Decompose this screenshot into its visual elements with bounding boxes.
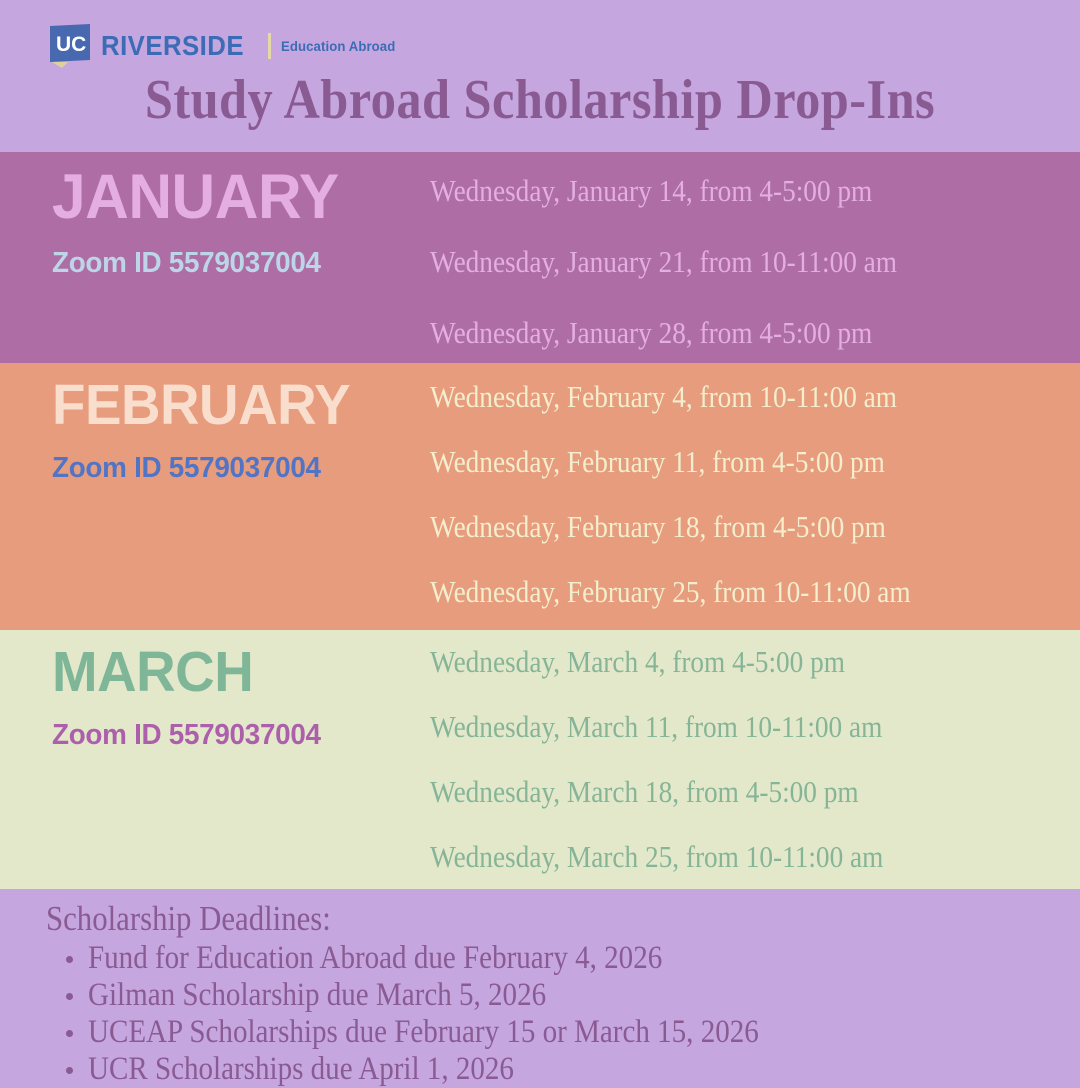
bullet-icon bbox=[66, 993, 73, 1000]
session-item: Wednesday, March 25, from 10-11:00 am bbox=[430, 841, 983, 872]
deadline-text: Gilman Scholarship due March 5, 2026 bbox=[88, 977, 546, 1014]
list-item: UCEAP Scholarships due February 15 or Ma… bbox=[46, 1014, 1080, 1051]
zoom-id-january: Zoom ID 5579037004 bbox=[52, 249, 415, 278]
svg-text:UC: UC bbox=[56, 33, 86, 56]
session-item: Wednesday, February 18, from 4-5:00 pm bbox=[430, 511, 983, 542]
logo-subtitle: Education Abroad bbox=[281, 39, 395, 53]
session-list-february: Wednesday, February 4, from 10-11:00 am … bbox=[430, 363, 1080, 641]
bullet-icon bbox=[66, 1030, 73, 1037]
month-label-group-february: FEBRUARY Zoom ID 5579037004 bbox=[0, 363, 430, 483]
list-item: UCR Scholarships due April 1, 2026 bbox=[46, 1051, 1080, 1088]
scholarship-deadlines-section: Scholarship Deadlines: Fund for Educatio… bbox=[0, 889, 1080, 1088]
session-item: Wednesday, March 18, from 4-5:00 pm bbox=[430, 776, 983, 807]
page-title: Study Abroad Scholarship Drop-Ins bbox=[54, 72, 1026, 128]
month-band-march: MARCH Zoom ID 5579037004 Wednesday, Marc… bbox=[0, 630, 1080, 889]
session-item: Wednesday, February 4, from 10-11:00 am bbox=[430, 381, 983, 412]
list-item: Gilman Scholarship due March 5, 2026 bbox=[46, 977, 1080, 1014]
session-item: Wednesday, February 11, from 4-5:00 pm bbox=[430, 446, 983, 477]
bullet-icon bbox=[66, 1067, 73, 1074]
deadlines-list: Fund for Education Abroad due February 4… bbox=[46, 938, 1080, 1088]
session-item: Wednesday, January 14, from 4-5:00 pm bbox=[430, 175, 983, 206]
logo-wordmark: RIVERSIDE bbox=[101, 32, 244, 60]
month-band-february: FEBRUARY Zoom ID 5579037004 Wednesday, F… bbox=[0, 363, 1080, 630]
logo-divider bbox=[268, 33, 271, 59]
session-item: Wednesday, January 21, from 10-11:00 am bbox=[430, 246, 983, 277]
month-name-february: FEBRUARY bbox=[52, 377, 415, 434]
session-item: Wednesday, February 25, from 10-11:00 am bbox=[430, 576, 983, 607]
ucr-education-abroad-logo: UC RIVERSIDE Education Abroad bbox=[48, 24, 403, 68]
bullet-icon bbox=[66, 956, 73, 963]
session-item: Wednesday, March 4, from 4-5:00 pm bbox=[430, 646, 983, 677]
zoom-id-february: Zoom ID 5579037004 bbox=[52, 454, 415, 483]
deadline-text: Fund for Education Abroad due February 4… bbox=[88, 940, 662, 977]
deadlines-heading: Scholarship Deadlines: bbox=[46, 899, 956, 938]
month-name-january: JANUARY bbox=[52, 166, 415, 229]
session-item: Wednesday, March 11, from 10-11:00 am bbox=[430, 711, 983, 742]
scholarship-drop-ins-poster: UC RIVERSIDE Education Abroad Study Abro… bbox=[0, 0, 1080, 1080]
month-band-january: JANUARY Zoom ID 5579037004 Wednesday, Ja… bbox=[0, 152, 1080, 363]
session-list-march: Wednesday, March 4, from 4-5:00 pm Wedne… bbox=[430, 630, 1080, 906]
list-item: Fund for Education Abroad due February 4… bbox=[46, 940, 1080, 977]
deadline-text: UCEAP Scholarships due February 15 or Ma… bbox=[88, 1014, 759, 1051]
deadline-text: UCR Scholarships due April 1, 2026 bbox=[88, 1051, 514, 1088]
month-label-group-january: JANUARY Zoom ID 5579037004 bbox=[0, 152, 430, 278]
uc-badge-icon: UC bbox=[48, 24, 94, 68]
month-name-march: MARCH bbox=[52, 644, 415, 701]
session-item: Wednesday, January 28, from 4-5:00 pm bbox=[430, 317, 983, 348]
zoom-id-march: Zoom ID 5579037004 bbox=[52, 721, 415, 750]
session-list-january: Wednesday, January 14, from 4-5:00 pm We… bbox=[430, 152, 1080, 388]
month-label-group-march: MARCH Zoom ID 5579037004 bbox=[0, 630, 430, 750]
poster-header: UC RIVERSIDE Education Abroad Study Abro… bbox=[0, 0, 1080, 152]
